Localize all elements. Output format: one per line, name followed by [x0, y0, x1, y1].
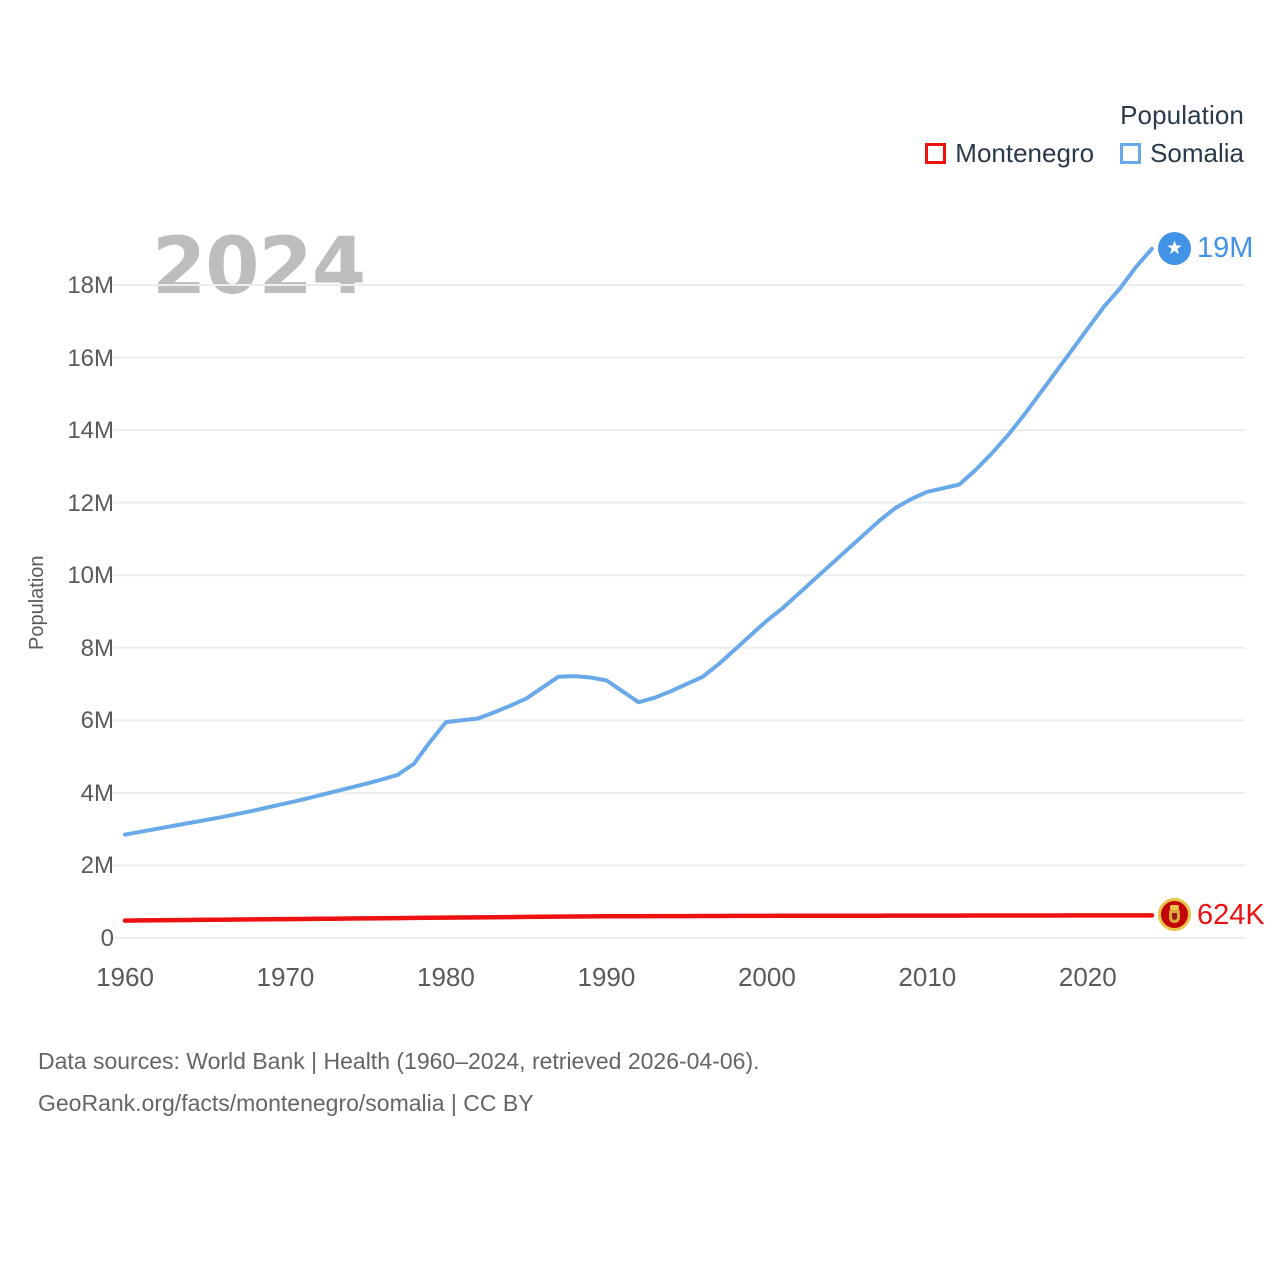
y-tick-label: 4M: [28, 780, 114, 808]
montenegro-flag-icon: [1158, 898, 1191, 931]
footer-line-1: Data sources: World Bank | Health (1960–…: [38, 1040, 760, 1082]
emblem-crown: [1170, 905, 1179, 910]
series-line-montenegro[interactable]: [125, 915, 1152, 920]
y-tick-label: 8M: [28, 635, 114, 663]
chart-canvas: Population Montenegro Somalia 2024 Popul…: [0, 0, 1280, 1280]
endpoint-marker-somalia[interactable]: ★ 19M: [1158, 232, 1253, 265]
endpoint-marker-montenegro[interactable]: 624K: [1158, 898, 1265, 931]
somalia-flag-icon: ★: [1158, 232, 1191, 265]
x-tick-label: 1960: [96, 962, 154, 993]
footer-attribution: Data sources: World Bank | Health (1960–…: [38, 1040, 760, 1124]
x-tick-label: 2000: [738, 962, 796, 993]
y-tick-label: 10M: [28, 562, 114, 590]
y-tick-label: 6M: [28, 707, 114, 735]
x-tick-label: 2010: [898, 962, 956, 993]
endpoint-value-montenegro: 624K: [1197, 899, 1265, 931]
x-tick-label: 2020: [1059, 962, 1117, 993]
star-icon: ★: [1166, 239, 1183, 258]
y-tick-label: 18M: [28, 272, 114, 300]
eagle-emblem-icon: [1167, 905, 1182, 924]
y-tick-label: 0: [28, 925, 114, 953]
y-tick-label: 2M: [28, 852, 114, 880]
footer-line-2: GeoRank.org/facts/montenegro/somalia | C…: [38, 1082, 760, 1124]
y-tick-label: 16M: [28, 345, 114, 373]
series-line-somalia[interactable]: [125, 249, 1152, 835]
x-tick-label: 1990: [577, 962, 635, 993]
x-tick-label: 1980: [417, 962, 475, 993]
y-tick-label: 12M: [28, 490, 114, 518]
x-tick-label: 1970: [257, 962, 315, 993]
y-tick-label: 14M: [28, 417, 114, 445]
endpoint-value-somalia: 19M: [1197, 232, 1253, 264]
